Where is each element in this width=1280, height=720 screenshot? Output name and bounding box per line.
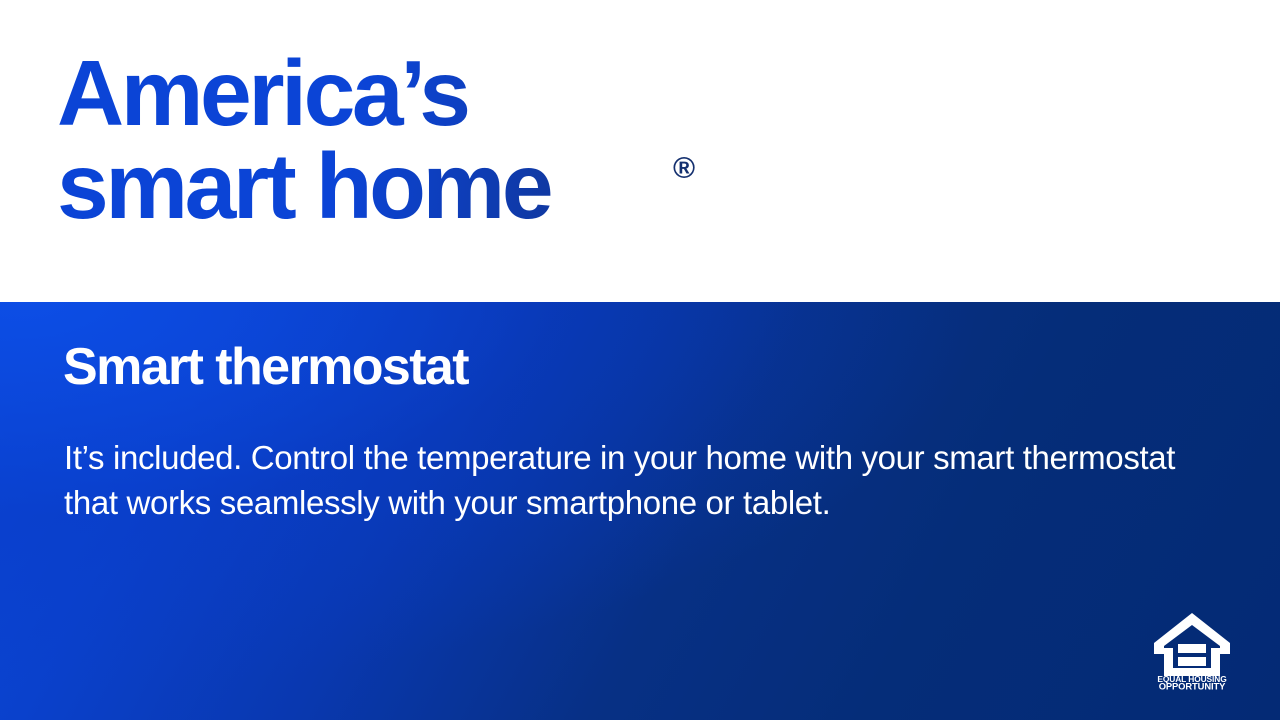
eho-caption: EQUAL HOUSING OPPORTUNITY — [1157, 674, 1226, 690]
brand-logo-line-2: smart home — [57, 140, 757, 232]
body-description: It’s included. Control the temperature i… — [64, 435, 1209, 525]
slide-root: America’s smart home ® Smart thermostat … — [0, 0, 1280, 720]
brand-logo-line-1: America’s — [57, 47, 757, 139]
brand-band: America’s smart home ® — [0, 0, 1280, 302]
page-title: Smart thermostat — [63, 338, 468, 396]
content-panel: Smart thermostat It’s included. Control … — [0, 302, 1280, 720]
brand-logo-lockup: America’s smart home — [57, 47, 757, 232]
eho-caption-line-2: OPPORTUNITY — [1159, 681, 1226, 691]
house-icon — [1154, 613, 1230, 676]
equal-housing-opportunity-logo: EQUAL HOUSING OPPORTUNITY — [1152, 610, 1232, 690]
registered-trademark-icon: ® — [673, 154, 705, 186]
